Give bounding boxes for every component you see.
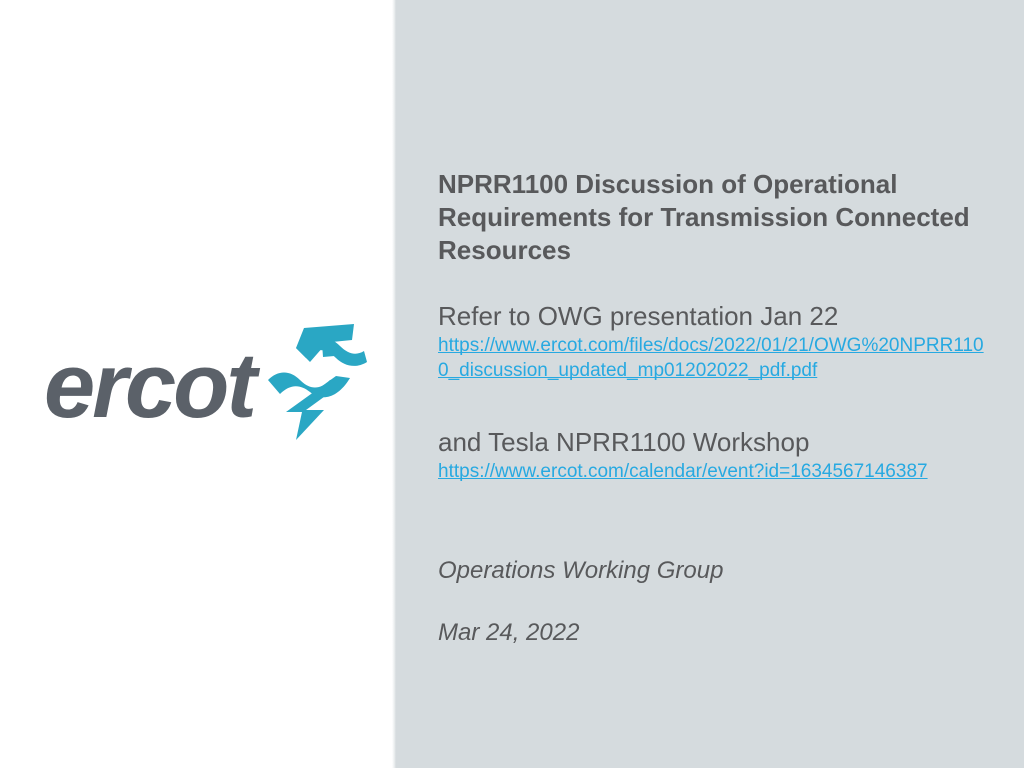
- working-group-name: Operations Working Group: [438, 556, 990, 586]
- presentation-date: Mar 24, 2022: [438, 618, 990, 648]
- page-title: NPRR1100 Discussion of Operational Requi…: [438, 168, 990, 267]
- spacer: [438, 586, 990, 618]
- tesla-workshop-link[interactable]: https://www.ercot.com/calendar/event?id=…: [438, 459, 990, 484]
- reference-one-lead: Refer to OWG presentation Jan 22: [438, 299, 990, 333]
- ercot-lightning-bolt-mark: [266, 318, 370, 442]
- slide-content: NPRR1100 Discussion of Operational Requi…: [438, 168, 990, 648]
- spacer: [438, 383, 990, 425]
- ercot-wordmark: ercot: [44, 340, 254, 432]
- spacer: [438, 484, 990, 556]
- reference-two-lead: and Tesla NPRR1100 Workshop: [438, 425, 990, 459]
- ercot-logo: ercot: [44, 318, 374, 442]
- panel-edge-divider: [392, 0, 396, 768]
- spacer: [438, 267, 990, 299]
- presentation-slide: ercot NPRR1100 Discussion of Operational…: [0, 0, 1024, 768]
- owg-presentation-link[interactable]: https://www.ercot.com/files/docs/2022/01…: [438, 333, 990, 383]
